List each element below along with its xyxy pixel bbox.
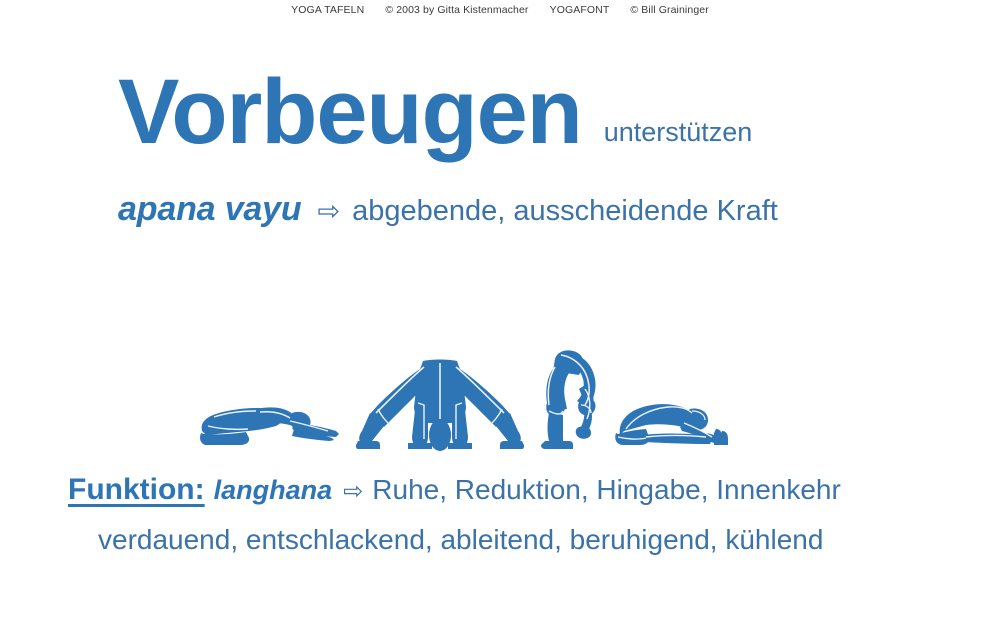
wide-legged-forward-bend-figure xyxy=(356,359,524,451)
subtitle-line: apana vayu ⇨ abgebende, ausscheidende Kr… xyxy=(118,190,778,229)
function-qualities-text: Ruhe, Reduktion, Hingabe, Innenkehr xyxy=(372,474,841,506)
right-arrow-icon: ⇨ xyxy=(343,477,363,506)
credit-font-name: YOGAFONT xyxy=(550,4,610,16)
subtitle-translation-text: abgebende, ausscheidende Kraft xyxy=(352,195,778,228)
title-main-text: Vorbeugen xyxy=(118,66,582,158)
credit-series: YOGA TAFELN xyxy=(291,4,364,16)
standing-forward-fold-figure xyxy=(541,349,603,451)
function-effects-text: verdauend, entschlackend, ableitend, ber… xyxy=(98,524,823,556)
right-arrow-icon: ⇨ xyxy=(318,198,341,225)
function-sanskrit-term: langhana xyxy=(214,475,333,506)
seated-forward-bend-figure xyxy=(612,401,730,451)
pose-figure-row xyxy=(0,336,1000,451)
credit-header: YOGA TAFELN © 2003 by Gitta Kistenmacher… xyxy=(0,4,1000,16)
function-label: Funktion: xyxy=(68,473,205,507)
page-title: Vorbeugen unterstützen xyxy=(118,66,752,158)
subtitle-sanskrit-term: apana vayu xyxy=(118,190,302,229)
credit-font-copyright: © Bill Graininger xyxy=(630,4,708,16)
child-pose-figure xyxy=(196,393,342,451)
function-line: Funktion: langhana ⇨ Ruhe, Reduktion, Hi… xyxy=(68,473,841,507)
title-qualifier-text: unterstützen xyxy=(604,119,753,146)
credit-chart-copyright: © 2003 by Gitta Kistenmacher xyxy=(385,4,528,16)
